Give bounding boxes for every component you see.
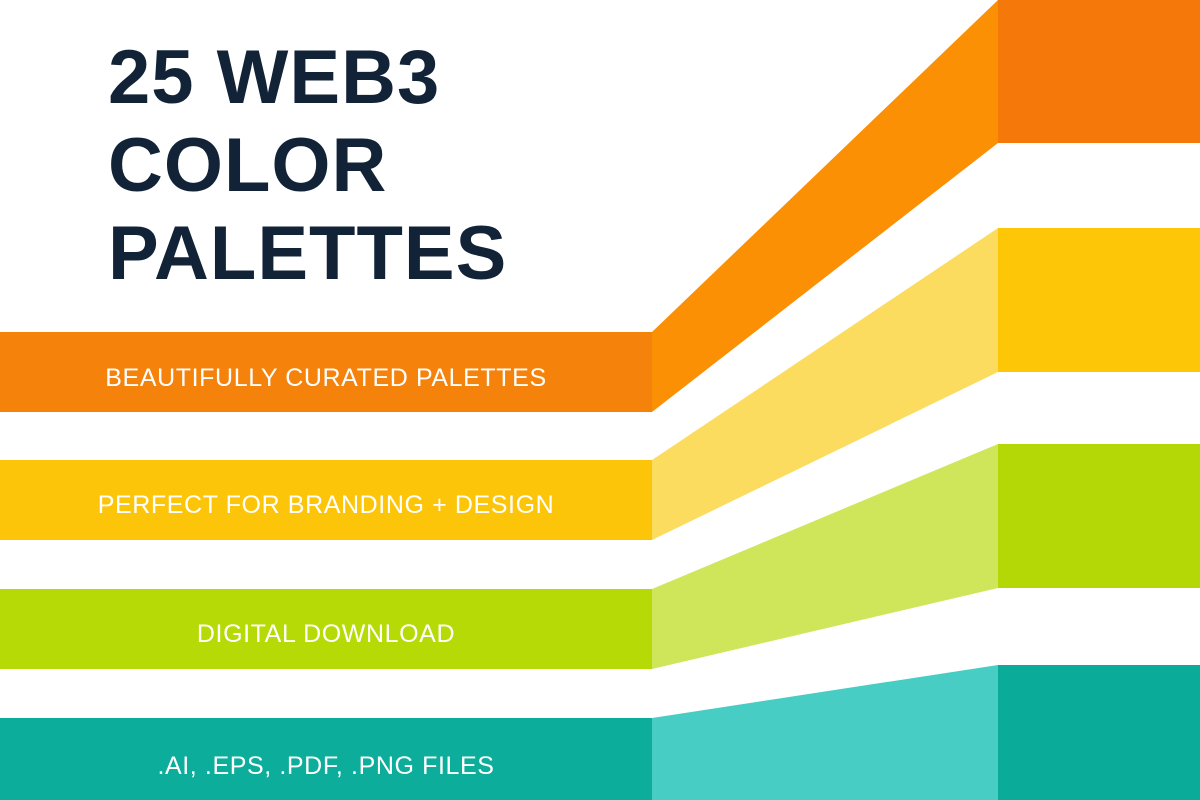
- ribbon-flat-segment: [0, 332, 652, 412]
- ribbon-right-segment: [998, 665, 1200, 800]
- ribbon-right-segment: [998, 0, 1200, 143]
- ribbon-flat-segment: [0, 589, 652, 669]
- ribbon-flat-segment: [0, 460, 652, 540]
- ribbon-right-segment: [998, 228, 1200, 372]
- ribbon-graphic: [0, 0, 1200, 800]
- ribbon-flat-segment: [0, 718, 652, 800]
- poster-canvas: 25 WEB3 COLOR PALETTES BEAUTIFULLY CURAT…: [0, 0, 1200, 800]
- ribbon-diagonal-segment: [652, 665, 998, 800]
- ribbon-right-segment: [998, 444, 1200, 588]
